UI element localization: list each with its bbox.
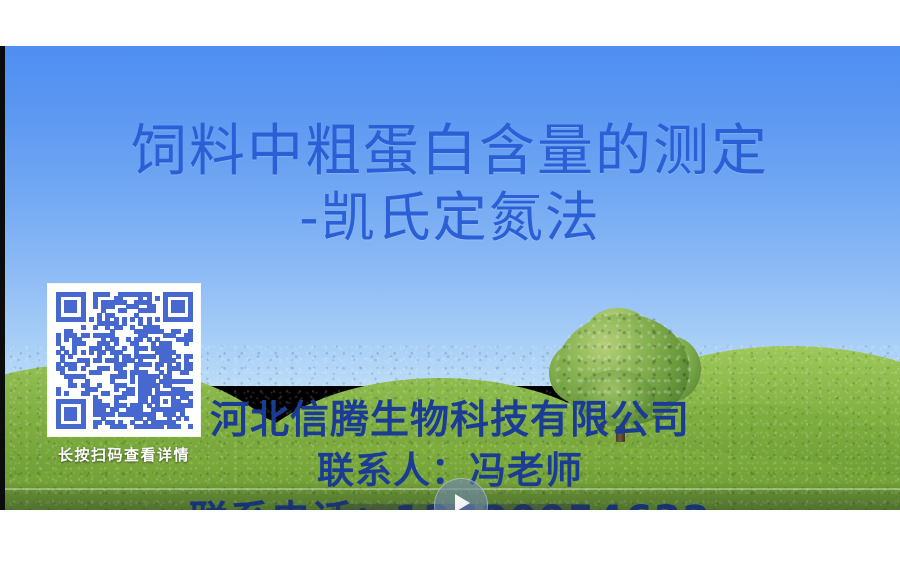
player-control-bar[interactable]: [0, 482, 900, 510]
top-white-margin: [0, 0, 900, 46]
bottom-white-margin: [0, 510, 900, 561]
title-block: 饲料中粗蛋白含量的测定 -凯氏定氮法: [0, 118, 900, 250]
qr-code-card[interactable]: [48, 284, 200, 436]
letterbox-left-bar: [0, 46, 5, 510]
play-icon: [455, 494, 470, 510]
video-title-line-1: 饲料中粗蛋白含量的测定: [0, 118, 900, 186]
page-root: 饲料中粗蛋白含量的测定 -凯氏定氮法 长按扫码查看详情 河北信腾生物科技有限公司…: [0, 0, 900, 561]
video-player[interactable]: 饲料中粗蛋白含量的测定 -凯氏定氮法 长按扫码查看详情 河北信腾生物科技有限公司…: [0, 46, 900, 510]
qr-code-caption: 长按扫码查看详情: [0, 444, 248, 465]
play-button[interactable]: [434, 478, 488, 510]
video-title-line-2: -凯氏定氮法: [0, 186, 900, 250]
qr-code-image: [56, 292, 192, 428]
